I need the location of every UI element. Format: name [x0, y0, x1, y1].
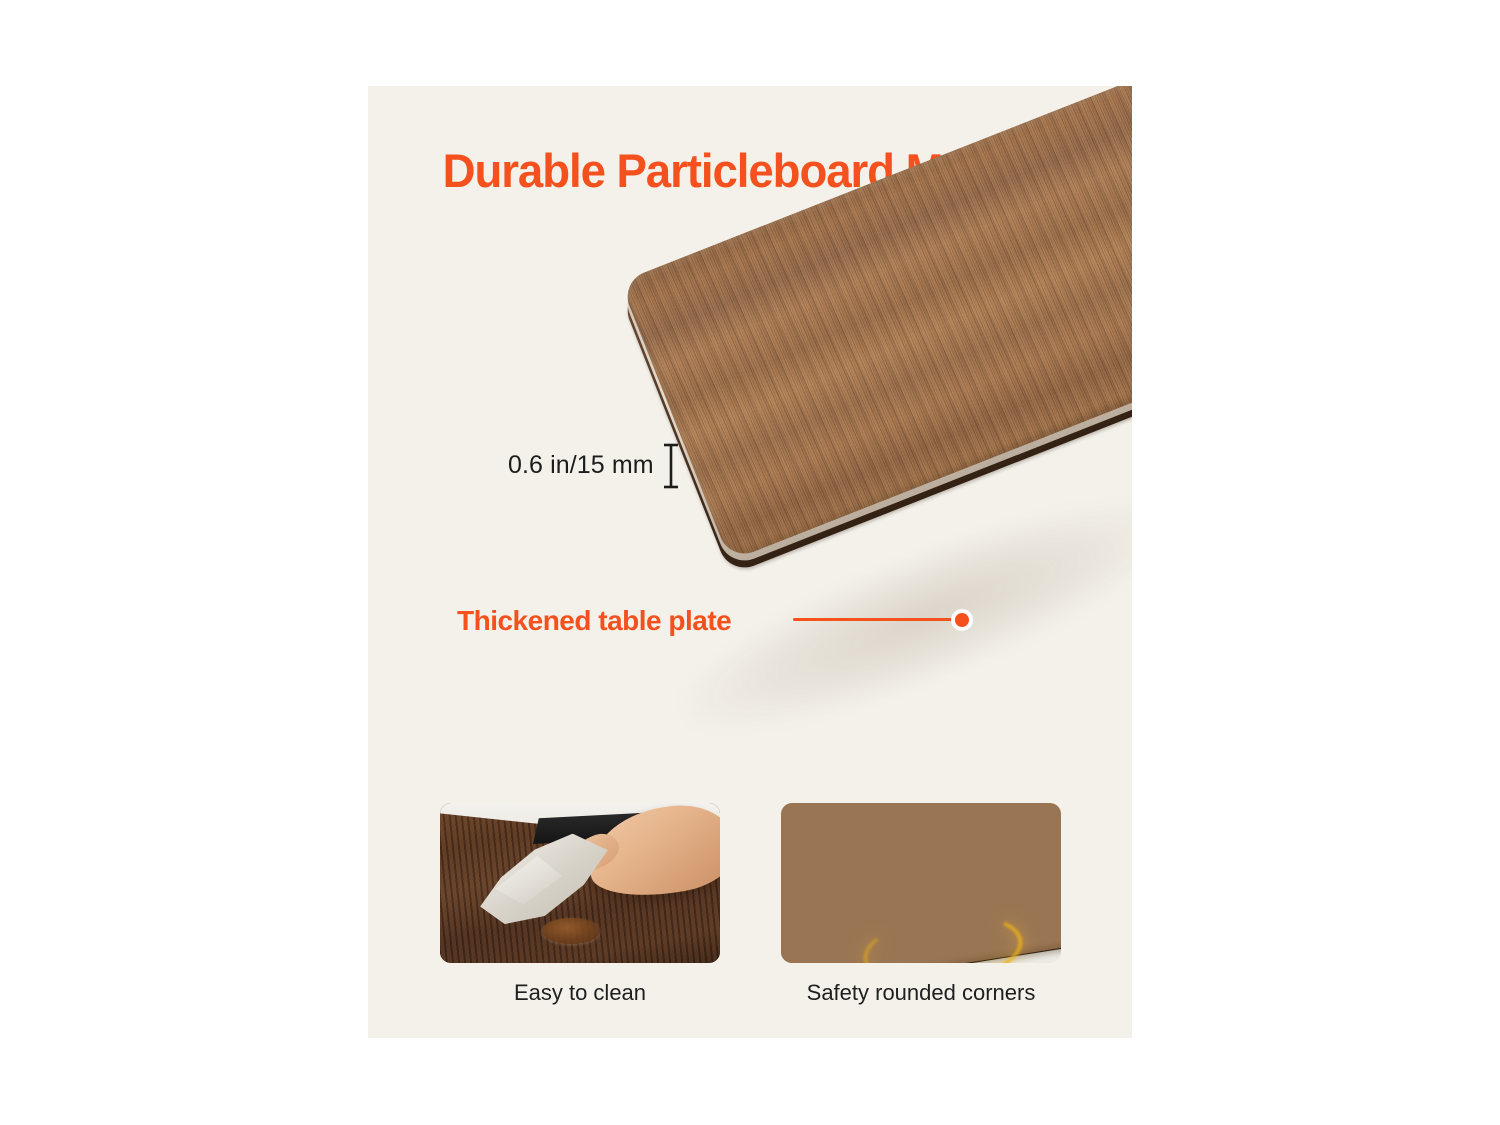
callout-marker-dot	[951, 609, 973, 631]
feature-card-rounded-corners	[781, 803, 1061, 963]
thickness-bracket-icon	[662, 443, 680, 489]
thickness-measurement-label: 0.6 in/15 mm	[508, 450, 654, 480]
liquid-stain-spot	[542, 918, 600, 944]
feature-card-easy-to-clean	[440, 803, 720, 963]
image-canvas: Durable Particleboard Material 0.6 in/15…	[368, 86, 1132, 1038]
hero-drop-shadow	[664, 465, 1132, 767]
photo-wiping-desktop	[440, 803, 720, 963]
page-title: Durable Particleboard Material	[443, 144, 1064, 198]
photo-rounded-corner	[781, 803, 1061, 963]
product-feature-image: Durable Particleboard Material 0.6 in/15…	[0, 0, 1500, 1125]
feature-caption-easy-to-clean: Easy to clean	[440, 979, 720, 1007]
thickened-plate-callout-label: Thickened table plate	[457, 604, 731, 638]
callout-leader-line	[793, 618, 961, 621]
feature-caption-rounded-corners: Safety rounded corners	[781, 979, 1061, 1007]
